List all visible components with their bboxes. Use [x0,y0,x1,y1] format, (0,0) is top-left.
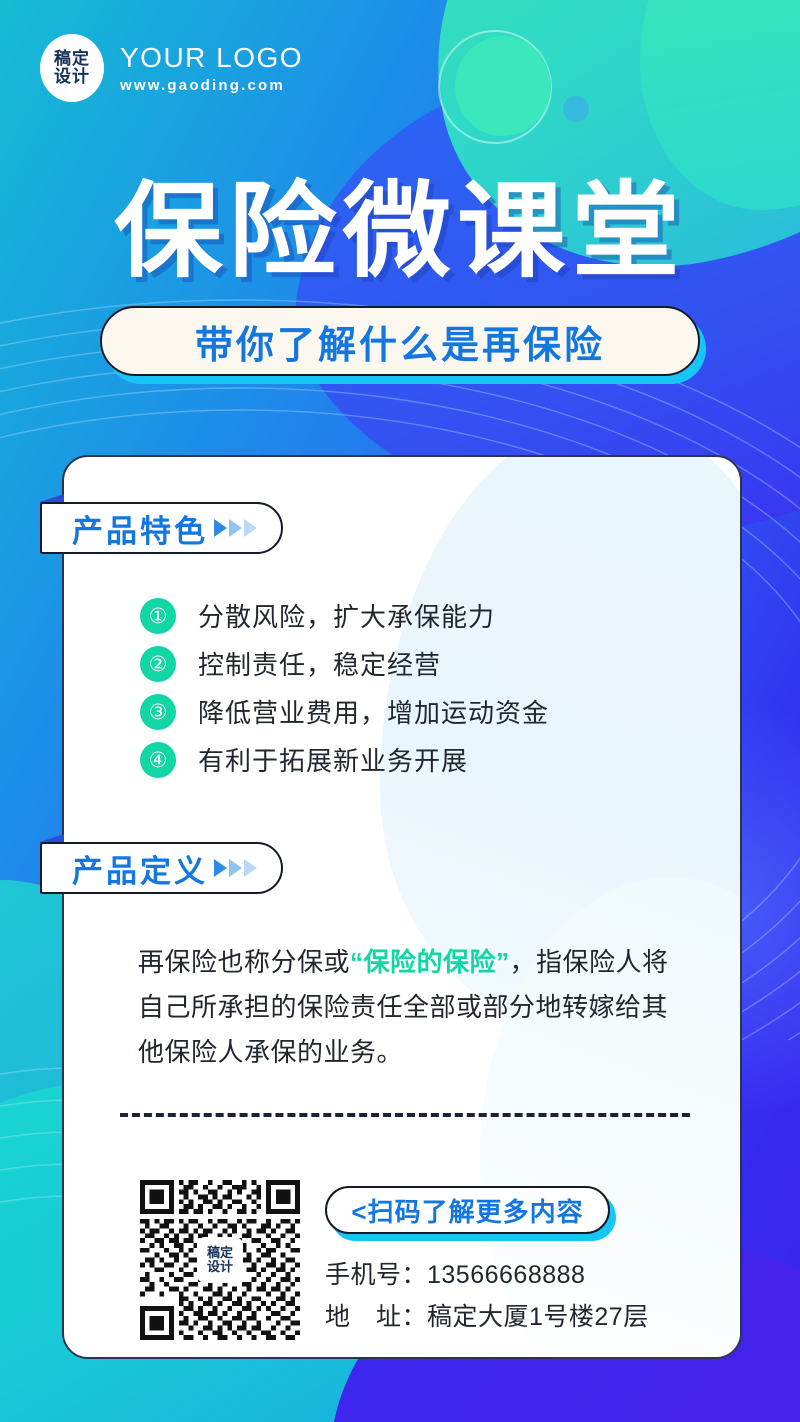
list-item: ④ 有利于拓展新业务开展 [140,741,549,778]
qr-logo-line2: 设计 [207,1260,233,1274]
list-item: ① 分散风险，扩大承保能力 [140,597,549,634]
scan-cta-label[interactable]: <扫码了解更多内容 [325,1186,610,1234]
section-tag-label: 产品特色 [72,506,208,551]
logo-badge-line1: 稿定 [54,50,90,68]
list-item-number: ② [140,646,176,682]
page-title: 保险微课堂 [0,146,800,297]
triple-triangle-icon [214,519,257,537]
dashed-divider [120,1113,690,1117]
list-item-label: 降低营业费用，增加运动资金 [198,693,549,730]
section-tag-body: 产品定义 [40,842,283,894]
qr-code[interactable]: 稿定 设计 [140,1180,300,1340]
poster-canvas: 稿定 设计 YOUR LOGO www.gaoding.com 保险微课堂 带你… [0,0,800,1422]
scan-cta[interactable]: <扫码了解更多内容 [325,1186,610,1236]
list-item-label: 控制责任，稳定经营 [198,645,441,682]
logo-badge-line2: 设计 [54,68,90,86]
section-tag-label: 产品定义 [72,846,208,891]
feature-list: ① 分散风险，扩大承保能力 ② 控制责任，稳定经营 ③ 降低营业费用，增加运动资… [140,597,549,778]
brand-logo: 稿定 设计 YOUR LOGO www.gaoding.com [40,34,303,102]
brand-url: www.gaoding.com [120,77,303,94]
qr-logo-line1: 稿定 [207,1246,233,1260]
list-item-number: ④ [140,742,176,778]
subtitle-pill: 带你了解什么是再保险 [100,306,700,378]
logo-badge-icon: 稿定 设计 [40,34,104,102]
list-item: ③ 降低营业费用，增加运动资金 [140,693,549,730]
definition-part1: 再保险也称分保或 [138,947,350,977]
triple-triangle-icon [214,859,257,877]
definition-paragraph: 再保险也称分保或“保险的保险”，指保险人将自己所承担的保险责任全部或部分地转嫁给… [138,940,690,1075]
contact-address: 地 址：稿定大厦1号楼27层 [325,1297,649,1333]
list-item: ② 控制责任，稳定经营 [140,645,549,682]
list-item-label: 分散风险，扩大承保能力 [198,597,495,634]
qr-center-logo-icon: 稿定 设计 [197,1237,243,1283]
section-tag-body: 产品特色 [40,502,283,554]
subtitle-text: 带你了解什么是再保险 [100,306,700,376]
list-item-number: ① [140,598,176,634]
background-circle-small [563,96,589,122]
definition-highlight: “保险的保险” [350,947,510,977]
contact-info: 手机号：13566668888 地 址：稿定大厦1号楼27层 [325,1255,649,1333]
background-circle-mint [455,36,551,136]
contact-phone: 手机号：13566668888 [325,1255,649,1291]
brand-name: YOUR LOGO [120,42,303,74]
list-item-number: ③ [140,694,176,730]
list-item-label: 有利于拓展新业务开展 [198,741,468,778]
brand-text: YOUR LOGO www.gaoding.com [120,42,303,94]
